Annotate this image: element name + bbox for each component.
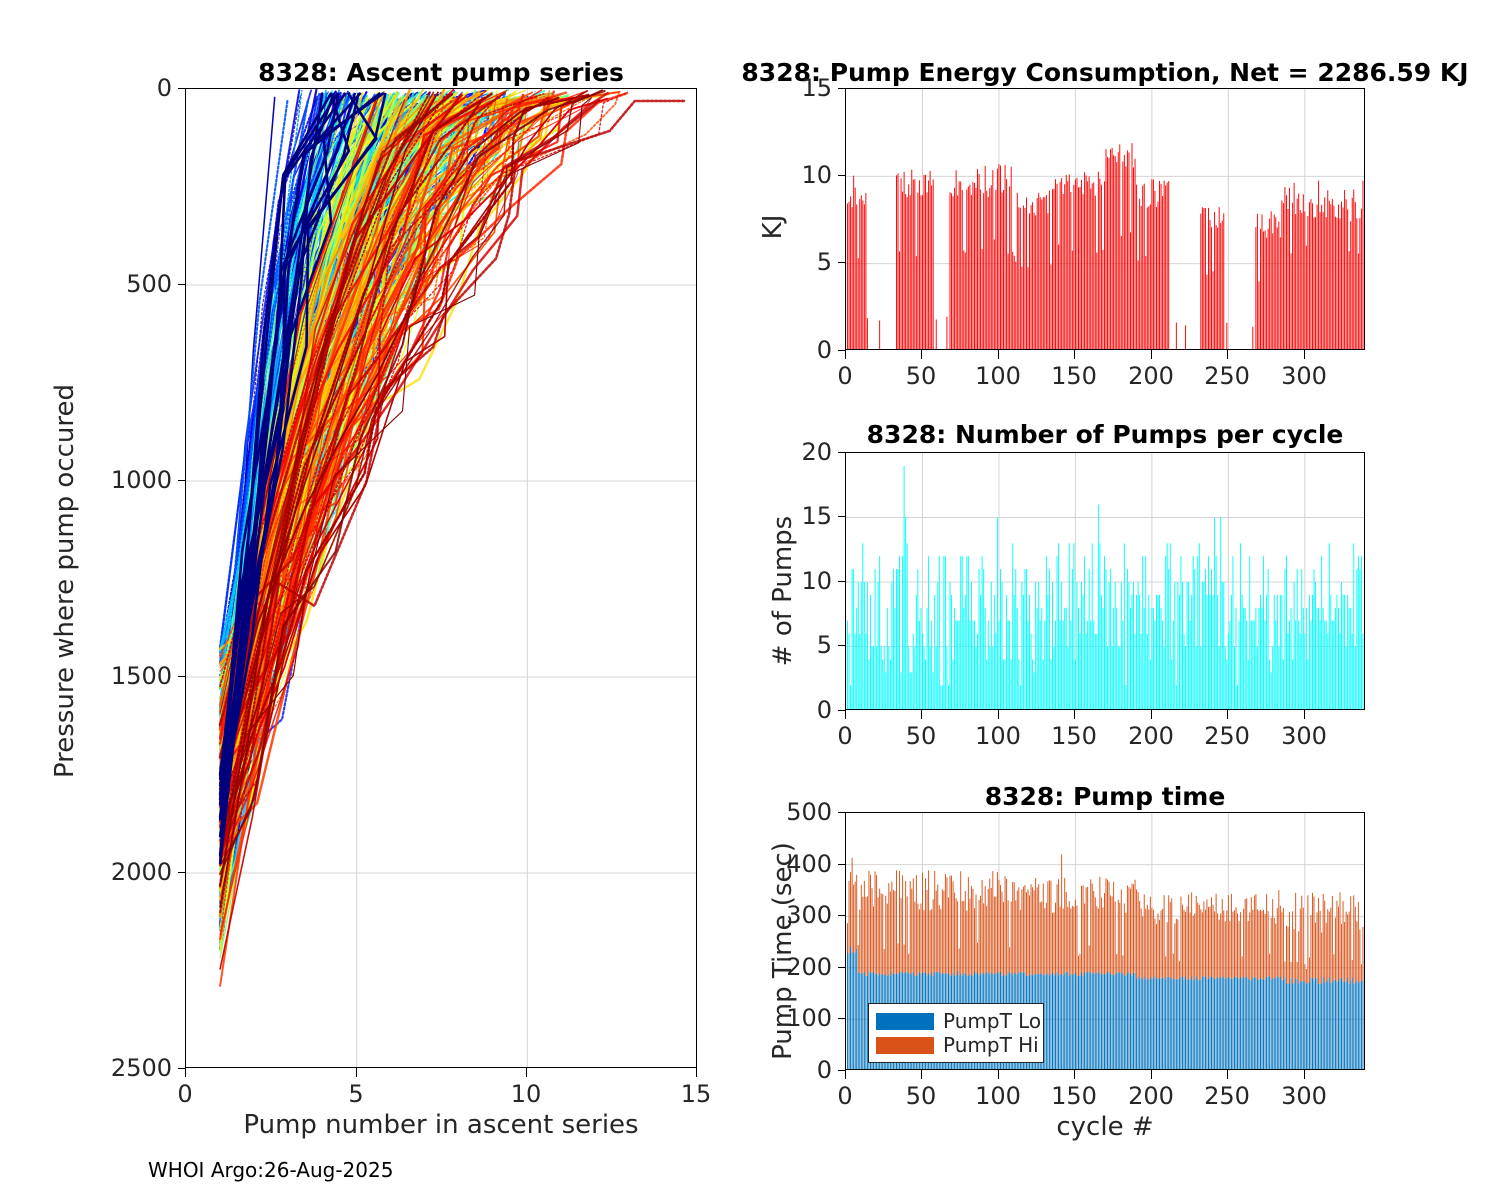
- energy-xticklabel-0: 0: [837, 362, 852, 390]
- pumps-xtick-150: [1074, 710, 1075, 719]
- left-xtick-15: [696, 1068, 697, 1077]
- energy-xtick-200: [1151, 350, 1152, 359]
- energy-yticklabel-0: 0: [786, 336, 832, 364]
- time-ytick-500: [838, 812, 846, 813]
- energy-ytick-10: [838, 175, 846, 176]
- left-yticklabel-2000: 2000: [110, 858, 172, 886]
- left-ytick-500: [178, 284, 186, 285]
- ascent-pump-series-axes: [185, 88, 697, 1068]
- pumps-per-cycle-axes: [845, 452, 1365, 710]
- energy-xtick-50: [921, 350, 922, 359]
- legend-swatch-pumpt-lo: [876, 1013, 934, 1030]
- legend-row-pumpt-lo: PumpT Lo: [876, 1009, 1036, 1033]
- time-xticklabel-300: 300: [1281, 1082, 1327, 1110]
- legend-row-pumpt-hi: PumpT Hi: [876, 1033, 1036, 1057]
- energy-xticklabel-150: 150: [1051, 362, 1097, 390]
- pumps-xticklabel-50: 50: [906, 722, 937, 750]
- footer-stamp: WHOI Argo:26-Aug-2025: [148, 1158, 393, 1182]
- time-xtick-200: [1151, 1070, 1152, 1079]
- pump-energy-canvas: [846, 89, 1365, 350]
- pump-time-legend: PumpT Lo PumpT Hi: [868, 1003, 1044, 1063]
- pump-energy-title: 8328: Pump Energy Consumption, Net = 228…: [720, 58, 1490, 87]
- left-xticklabel-5: 5: [348, 1080, 363, 1108]
- time-xtick-250: [1227, 1070, 1228, 1079]
- time-xtick-100: [998, 1070, 999, 1079]
- pump-energy-axes: [845, 88, 1365, 350]
- pumps-xticklabel-100: 100: [975, 722, 1021, 750]
- pumps-ytick-5: [838, 645, 846, 646]
- pumps-ytick-20: [838, 452, 846, 453]
- left-ytick-1500: [178, 676, 186, 677]
- pumps-xtick-250: [1227, 710, 1228, 719]
- time-xticklabel-250: 250: [1204, 1082, 1250, 1110]
- left-xticklabel-0: 0: [177, 1080, 192, 1108]
- energy-xtick-300: [1304, 350, 1305, 359]
- pumps-per-cycle-ylabel: # of Pumps: [768, 461, 798, 721]
- left-xtick-10: [526, 1068, 527, 1077]
- time-ytick-200: [838, 967, 846, 968]
- energy-xtick-250: [1227, 350, 1228, 359]
- pumps-xticklabel-250: 250: [1204, 722, 1250, 750]
- legend-label-pumpt-lo: PumpT Lo: [943, 1009, 1041, 1033]
- time-xtick-300: [1304, 1070, 1305, 1079]
- pumps-xticklabel-0: 0: [837, 722, 852, 750]
- time-xtick-0: [845, 1070, 846, 1079]
- energy-xticklabel-200: 200: [1128, 362, 1174, 390]
- time-ytick-300: [838, 915, 846, 916]
- left-yticklabel-1000: 1000: [110, 466, 172, 494]
- time-ytick-100: [838, 1018, 846, 1019]
- time-xticklabel-0: 0: [837, 1082, 852, 1110]
- legend-swatch-pumpt-hi: [876, 1037, 934, 1054]
- pump-time-title: 8328: Pump time: [845, 782, 1365, 811]
- pumps-per-cycle-canvas: [846, 453, 1365, 710]
- time-ytick-400: [838, 864, 846, 865]
- left-yticklabel-2500: 2500: [110, 1054, 172, 1082]
- ascent-pump-series-ylabel: Pressure where pump occured: [50, 321, 80, 841]
- left-xtick-5: [356, 1068, 357, 1077]
- time-xticklabel-50: 50: [906, 1082, 937, 1110]
- time-xticklabel-100: 100: [975, 1082, 1021, 1110]
- time-xticklabel-200: 200: [1128, 1082, 1174, 1110]
- pumps-xtick-50: [921, 710, 922, 719]
- left-yticklabel-0: 0: [110, 74, 172, 102]
- ascent-pump-series-canvas: [186, 89, 697, 1068]
- legend-label-pumpt-hi: PumpT Hi: [943, 1033, 1039, 1057]
- left-xticklabel-10: 10: [511, 1080, 542, 1108]
- pump-energy-ylabel: KJ: [758, 127, 788, 327]
- energy-yticklabel-10: 10: [786, 161, 832, 189]
- pump-time-ylabel: Pump Time (sec): [768, 781, 798, 1121]
- energy-xticklabel-50: 50: [906, 362, 937, 390]
- left-ytick-1000: [178, 480, 186, 481]
- pumps-xticklabel-200: 200: [1128, 722, 1174, 750]
- energy-ytick-15: [838, 88, 846, 89]
- pumps-xticklabel-300: 300: [1281, 722, 1327, 750]
- energy-yticklabel-5: 5: [786, 248, 832, 276]
- left-ytick-2000: [178, 872, 186, 873]
- pumps-xtick-100: [998, 710, 999, 719]
- pump-time-xlabel: cycle #: [845, 1112, 1365, 1142]
- energy-yticklabel-15: 15: [786, 74, 832, 102]
- left-yticklabel-1500: 1500: [110, 662, 172, 690]
- pumps-xticklabel-150: 150: [1051, 722, 1097, 750]
- pumps-ytick-15: [838, 516, 846, 517]
- pumps-xtick-200: [1151, 710, 1152, 719]
- pumps-per-cycle-title: 8328: Number of Pumps per cycle: [845, 420, 1365, 449]
- energy-ytick-5: [838, 262, 846, 263]
- energy-xtick-0: [845, 350, 846, 359]
- left-xtick-0: [185, 1068, 186, 1077]
- energy-xticklabel-100: 100: [975, 362, 1021, 390]
- time-xtick-50: [921, 1070, 922, 1079]
- pumps-ytick-10: [838, 581, 846, 582]
- energy-xtick-150: [1074, 350, 1075, 359]
- time-xtick-150: [1074, 1070, 1075, 1079]
- pumps-xtick-300: [1304, 710, 1305, 719]
- energy-xticklabel-250: 250: [1204, 362, 1250, 390]
- energy-xtick-100: [998, 350, 999, 359]
- left-xticklabel-15: 15: [681, 1080, 712, 1108]
- time-xticklabel-150: 150: [1051, 1082, 1097, 1110]
- energy-xticklabel-300: 300: [1281, 362, 1327, 390]
- left-ytick-0: [178, 88, 186, 89]
- ascent-pump-series-title: 8328: Ascent pump series: [185, 58, 697, 87]
- left-yticklabel-500: 500: [110, 270, 172, 298]
- pumps-xtick-0: [845, 710, 846, 719]
- ascent-pump-series-xlabel: Pump number in ascent series: [185, 1110, 697, 1140]
